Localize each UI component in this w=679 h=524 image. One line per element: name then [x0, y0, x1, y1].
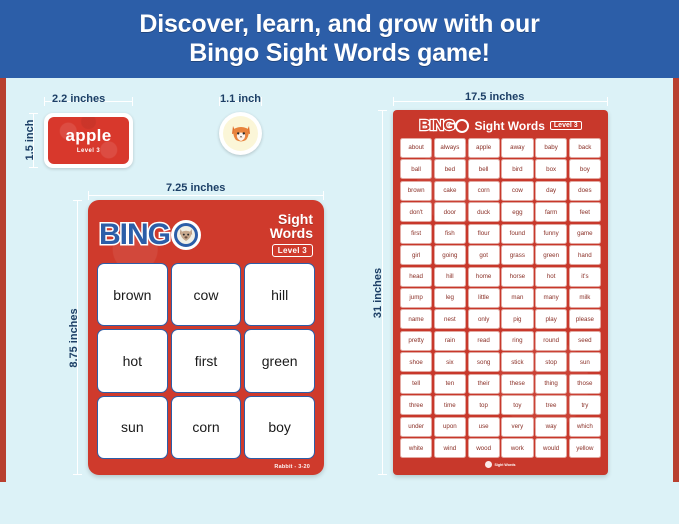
bingo-cell[interactable]: boy [244, 396, 315, 459]
poster-word-cell[interactable]: song [468, 352, 500, 372]
poster-word-cell[interactable]: rain [434, 331, 466, 351]
poster-height-label: 31 inches [372, 262, 384, 324]
poster-word-cell[interactable]: pig [501, 309, 533, 329]
poster-word-cell[interactable]: brown [400, 181, 432, 201]
bingo-cell[interactable]: cow [171, 263, 242, 326]
poster-word-cell[interactable]: green [535, 245, 567, 265]
poster-word-cell[interactable]: bell [468, 159, 500, 179]
poster-word-cell[interactable]: those [569, 374, 601, 394]
poster-word-cell[interactable]: ball [400, 159, 432, 179]
poster-word-cell[interactable]: found [501, 224, 533, 244]
bingo-cell[interactable]: brown [97, 263, 168, 326]
poster-word-cell[interactable]: only [468, 309, 500, 329]
top-banner-line-2: Bingo Sight Words game! [139, 39, 539, 68]
poster-word-cell[interactable]: head [400, 267, 432, 287]
bingo-card-width-line [88, 195, 324, 196]
bingo-cell[interactable]: corn [171, 396, 242, 459]
poster-word-cell[interactable]: milk [569, 288, 601, 308]
poster-title: Sight Words [474, 119, 544, 133]
bingo-card-subtitle-line2: Words [270, 226, 313, 240]
word-card-width-label: 2.2 inches [52, 93, 105, 105]
ring-icon [455, 119, 469, 133]
poster-word-cell[interactable]: read [468, 331, 500, 351]
chip-width-label: 1.1 inch [220, 93, 261, 105]
bingo-card-header: BING Sight Words Level 3 [97, 209, 315, 261]
poster-word-cell[interactable]: under [400, 417, 432, 437]
word-card-width-tick-right [132, 97, 133, 106]
poster-word-cell[interactable]: feet [569, 202, 601, 222]
chip-width-tick-right [261, 97, 262, 106]
poster-word-cell[interactable]: farm [535, 202, 567, 222]
poster-word-cell[interactable]: shoe [400, 352, 432, 372]
poster-word-cell[interactable]: grass [501, 245, 533, 265]
poster-word-cell[interactable]: wind [434, 438, 466, 458]
bingo-card-width-tick-left [88, 191, 89, 200]
poster-word-cell[interactable]: first [400, 224, 432, 244]
word-card-level: Level 3 [77, 148, 100, 154]
left-rail [0, 78, 6, 482]
poster-word-cell[interactable]: three [400, 395, 432, 415]
poster-word-cell[interactable]: tell [400, 374, 432, 394]
poster-word-cell[interactable]: these [501, 374, 533, 394]
poster-word-cell[interactable]: use [468, 417, 500, 437]
poster-header: BING Sight Words Level 3 [400, 116, 601, 135]
product-infographic: Discover, learn, and grow with our Bingo… [0, 0, 679, 524]
bingo-card-logo-text: BING [99, 218, 170, 252]
poster-word-cell[interactable]: leg [434, 288, 466, 308]
poster-word-cell[interactable]: box [535, 159, 567, 179]
poster-word-cell[interactable]: home [468, 267, 500, 287]
poster-word-cell[interactable]: their [468, 374, 500, 394]
word-card-face: apple Level 3 [48, 117, 129, 164]
top-banner: Discover, learn, and grow with our Bingo… [0, 0, 679, 78]
top-banner-line-1: Discover, learn, and grow with our [139, 10, 539, 39]
poster-word-cell[interactable]: egg [501, 202, 533, 222]
poster-word-cell[interactable]: top [468, 395, 500, 415]
bingo-card-level-badge: Level 3 [272, 244, 313, 257]
word-card-width-tick-left [44, 97, 45, 106]
poster-word-cell[interactable]: always [434, 138, 466, 158]
poster-level-badge: Level 3 [550, 121, 582, 130]
poster-word-cell[interactable]: man [501, 288, 533, 308]
poster-word-cell[interactable]: little [468, 288, 500, 308]
poster-word-cell[interactable]: back [569, 138, 601, 158]
chip-face-background [223, 116, 258, 151]
poster-word-cell[interactable]: toy [501, 395, 533, 415]
bingo-card-subtitle: Sight Words Level 3 [270, 212, 313, 258]
poster-logo-text: BING [419, 117, 454, 134]
poster-word-cell[interactable]: cow [501, 181, 533, 201]
bingo-card-width-tick-right [323, 191, 324, 200]
poster-word-cell[interactable]: about [400, 138, 432, 158]
poster-word-cell[interactable]: name [400, 309, 432, 329]
poster-word-cell[interactable]: cake [434, 181, 466, 201]
poster-word-cell[interactable]: hot [535, 267, 567, 287]
poster-height-tick-top [378, 110, 387, 111]
poster-word-cell[interactable]: door [434, 202, 466, 222]
word-card-word: apple [66, 127, 112, 145]
poster-height-tick-bottom [378, 474, 387, 475]
bingo-card-height-tick-bottom [73, 474, 82, 475]
poster-word-cell[interactable]: many [535, 288, 567, 308]
poster-logo: BING [419, 117, 469, 134]
poster-word-cell[interactable]: it's [569, 267, 601, 287]
poster-word-cell[interactable]: try [569, 395, 601, 415]
brand-logo-icon [485, 461, 492, 468]
poster-word-cell[interactable]: corn [468, 181, 500, 201]
poster-word-cell[interactable]: pretty [400, 331, 432, 351]
poster-word-cell[interactable]: wood [468, 438, 500, 458]
poster-word-cell[interactable]: hill [434, 267, 466, 287]
bingo-card-subtitle-line1: Sight [270, 212, 313, 226]
poster-width-tick-right [607, 97, 608, 106]
poster-word-cell[interactable]: seed [569, 331, 601, 351]
poster-word-cell[interactable]: girl [400, 245, 432, 265]
right-rail [673, 78, 679, 482]
poster-word-cell[interactable]: please [569, 309, 601, 329]
poster-word-cell[interactable]: ten [434, 374, 466, 394]
bingo-cell[interactable]: green [244, 329, 315, 392]
poster-word-cell[interactable]: horse [501, 267, 533, 287]
poster-word-cell[interactable]: duck [468, 202, 500, 222]
poster-word-cell[interactable]: hand [569, 245, 601, 265]
word-card-apple[interactable]: apple Level 3 [44, 113, 133, 168]
poster-word-cell[interactable]: don't [400, 202, 432, 222]
poster-word-grid: aboutalwaysappleawaybabybackballbedbellb… [400, 138, 601, 458]
poster-word-cell[interactable]: flour [468, 224, 500, 244]
poster-word-cell[interactable]: game [569, 224, 601, 244]
poster-word-cell[interactable]: apple [468, 138, 500, 158]
poster-word-cell[interactable]: got [468, 245, 500, 265]
poster-word-cell[interactable]: white [400, 438, 432, 458]
poster-word-cell[interactable]: baby [535, 138, 567, 158]
poster-word-cell[interactable]: six [434, 352, 466, 372]
poster-footer: Sight Words [400, 458, 601, 471]
poster-word-cell[interactable]: sun [569, 352, 601, 372]
poster-width-tick-left [393, 97, 394, 106]
bingo-card-height-tick-top [73, 200, 82, 201]
poster-word-cell[interactable]: time [434, 395, 466, 415]
poster-word-cell[interactable]: fish [434, 224, 466, 244]
poster-word-cell[interactable]: yellow [569, 438, 601, 458]
top-banner-text: Discover, learn, and grow with our Bingo… [139, 10, 539, 68]
poster-word-cell[interactable]: very [501, 417, 533, 437]
poster-word-cell[interactable]: thing [535, 374, 567, 394]
bingo-cell[interactable]: first [171, 329, 242, 392]
poster-word-cell[interactable]: nest [434, 309, 466, 329]
game-chip[interactable] [219, 112, 262, 155]
poster-word-cell[interactable]: way [535, 417, 567, 437]
poster-width-label: 17.5 inches [465, 91, 524, 103]
poster-word-cell[interactable]: tree [535, 395, 567, 415]
poster-word-cell[interactable]: does [569, 181, 601, 201]
poster-word-cell[interactable]: would [535, 438, 567, 458]
poster-word-cell[interactable]: stop [535, 352, 567, 372]
bingo-cell[interactable]: hot [97, 329, 168, 392]
bingo-card-credit: Rabbit - 3-20 [274, 464, 310, 470]
bingo-cell[interactable]: sun [97, 396, 168, 459]
poster-word-cell[interactable]: day [535, 181, 567, 201]
poster-word-cell[interactable]: boy [569, 159, 601, 179]
poster-word-cell[interactable]: ring [501, 331, 533, 351]
bingo-cell[interactable]: hill [244, 263, 315, 326]
bingo-card-grid: brown cow hill hot first green sun corn … [97, 263, 315, 459]
poster-word-cell[interactable]: funny [535, 224, 567, 244]
bingo-card-logo: BING [99, 218, 201, 252]
poster-word-cell[interactable]: play [535, 309, 567, 329]
fox-face-icon [228, 121, 254, 147]
poster-word-cell[interactable]: jump [400, 288, 432, 308]
poster-word-cell[interactable]: away [501, 138, 533, 158]
bingo-card-width-label: 7.25 inches [166, 182, 225, 194]
poster-word-cell[interactable]: bed [434, 159, 466, 179]
bingo-card-height-label: 8.75 inches [68, 301, 80, 375]
poster-footer-brand: Sight Words [494, 463, 515, 467]
sight-words-poster[interactable]: BING Sight Words Level 3 aboutalwaysappl… [393, 110, 608, 475]
poster-word-cell[interactable]: which [569, 417, 601, 437]
poster-word-cell[interactable]: upon [434, 417, 466, 437]
animal-face-icon [171, 220, 201, 250]
poster-word-cell[interactable]: work [501, 438, 533, 458]
animal-face-glyph [176, 225, 196, 245]
poster-word-cell[interactable]: bird [501, 159, 533, 179]
poster-word-cell[interactable]: stick [501, 352, 533, 372]
poster-word-cell[interactable]: round [535, 331, 567, 351]
word-card-height-label: 1.5 inch [24, 109, 36, 171]
bingo-card[interactable]: BING Sight Words Level 3 [88, 200, 324, 475]
poster-word-cell[interactable]: going [434, 245, 466, 265]
